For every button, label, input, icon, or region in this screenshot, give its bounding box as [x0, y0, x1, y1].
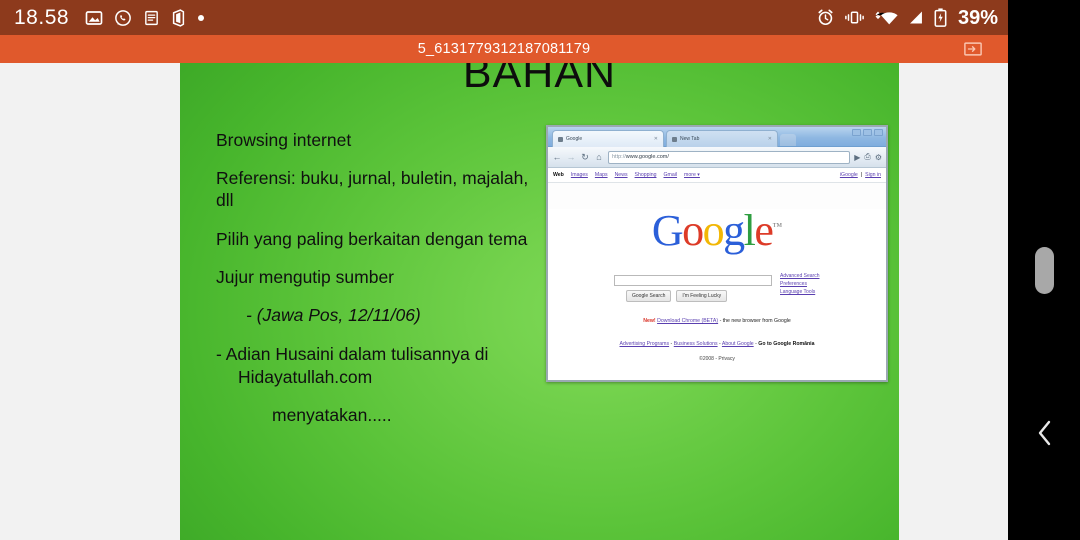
minimize-icon [852, 129, 861, 136]
slide-line-citation: - (Jawa Pos, 12/11/06) [216, 304, 541, 326]
logo-letter: o [703, 209, 724, 253]
slide-line: Pilih yang paling berkaitan dengan tema [216, 228, 541, 250]
status-system-icons: 39% [816, 8, 998, 28]
privacy-link: Privacy [718, 356, 734, 362]
slide-line-closing: menyatakan..... [216, 404, 541, 426]
home-icon: ⌂ [594, 153, 604, 162]
nav-link-maps: Maps [595, 172, 608, 178]
battery-icon [934, 8, 947, 27]
browser-tab-strip: Google ✕ New Tab ✕ [548, 127, 886, 147]
page-menu-icon: ⎙ [864, 152, 870, 162]
back-icon: ← [552, 153, 562, 162]
browser-tab-label: Google [566, 136, 582, 142]
alarm-icon [816, 8, 835, 27]
new-tab-button [780, 134, 796, 146]
chevron-left-icon [1036, 419, 1054, 452]
vibrate-icon [844, 9, 865, 26]
maximize-icon [863, 129, 872, 136]
window-controls [852, 129, 883, 136]
go-icon: ▶ [854, 153, 860, 162]
document-icon [143, 9, 160, 27]
slide-body-text: Browsing internet Referensi: buku, jurna… [216, 129, 541, 426]
google-logo: Google™ [548, 209, 886, 253]
separator: | [861, 172, 862, 178]
separator: - [719, 341, 721, 347]
office-icon [171, 9, 186, 27]
browser-tab-google: Google ✕ [552, 130, 664, 147]
embedded-browser-screenshot: Google ✕ New Tab ✕ [546, 125, 888, 382]
url-host: www.google.com/ [626, 154, 669, 160]
nav-link-igoogle: iGoogle [840, 172, 858, 178]
slide-line-source: - Adian Husaini dalam tulisannya di Hida… [216, 343, 541, 387]
copyright-text: ©2008 - [699, 356, 717, 362]
search-input [614, 275, 772, 286]
wrench-icon: ⚙ [875, 153, 882, 162]
forward-icon: → [566, 153, 576, 162]
nav-link-shopping: Shopping [635, 172, 657, 178]
image-icon [85, 9, 103, 27]
google-footer-links: Advertising Programs - Business Solution… [548, 341, 886, 347]
page-title: 5_6131779312187081179 [418, 41, 590, 57]
phone-viewport: 18.58 [0, 0, 1008, 540]
search-buttons: Google Search I'm Feeling Lucky [614, 290, 886, 302]
slide-line: Referensi: buku, jurnal, buletin, majala… [216, 167, 541, 211]
preferences-link: Preferences [780, 281, 819, 287]
reload-icon: ↻ [580, 153, 590, 162]
google-search-button: Google Search [626, 290, 671, 302]
logo-letter: e [754, 209, 772, 253]
slide-title: BAHAN [180, 63, 899, 98]
separator: - [671, 341, 673, 347]
about-google-link: About Google [722, 341, 754, 347]
nav-link-gmail: Gmail [663, 172, 677, 178]
browser-tab-label: New Tab [680, 136, 699, 142]
nav-link-images: Images [571, 172, 588, 178]
search-side-links: Advanced Search Preferences Language Too… [780, 273, 819, 295]
language-tools-link: Language Tools [780, 289, 819, 295]
nav-link-news: News [615, 172, 628, 178]
google-homepage: Google™ Google Search I'm Feeling Lucky … [548, 209, 886, 382]
status-notification-icons [85, 9, 205, 27]
slide-line: Jujur mengutip sumber [216, 266, 541, 288]
chrome-promo: New! Download Chrome (BETA) - the new br… [548, 318, 886, 324]
advertising-programs-link: Advertising Programs [620, 341, 670, 347]
close-icon [874, 129, 883, 136]
logo-letter: G [652, 209, 682, 253]
browser-toolbar: ← → ↻ ⌂ http://www.google.com/ ▶ ⎙ ⚙ [548, 147, 886, 168]
title-bar: 5_6131779312187081179 [0, 35, 1008, 63]
dot-icon [197, 14, 205, 22]
fit-to-screen-icon[interactable] [964, 42, 982, 56]
promo-badge: New! [643, 318, 655, 324]
screen: 18.58 [0, 0, 1080, 540]
wifi-icon [874, 9, 898, 27]
presentation-slide: BAHAN Browsing internet Referensi: buku,… [180, 63, 899, 540]
go-to-google-romania-link: Go to Google România [758, 341, 814, 347]
google-top-nav: Web Images Maps News Shopping Gmail more… [548, 168, 886, 183]
google-account-links: iGoogle | Sign in [840, 172, 881, 178]
logo-letter: g [723, 209, 744, 253]
status-bar: 18.58 [0, 0, 1008, 35]
nav-link-signin: Sign in [865, 172, 881, 178]
slide-line: Browsing internet [216, 129, 541, 151]
close-icon: ✕ [768, 136, 772, 142]
whatsapp-icon [114, 9, 132, 27]
favicon-icon [672, 137, 677, 142]
trademark-icon: ™ [772, 221, 782, 232]
browser-tab-newtab: New Tab ✕ [666, 130, 778, 147]
image-viewer-canvas[interactable]: BAHAN Browsing internet Referensi: buku,… [0, 63, 1008, 540]
navigation-strip [1008, 0, 1080, 540]
download-chrome-link: Download Chrome (BETA) [657, 318, 718, 324]
status-clock: 18.58 [14, 7, 69, 28]
address-bar: http://www.google.com/ [608, 151, 850, 164]
signal-icon [907, 9, 925, 26]
close-icon: ✕ [654, 136, 658, 142]
logo-letter: o [682, 209, 703, 253]
promo-text: - the new browser from Google [720, 318, 791, 324]
battery-percent: 39% [958, 8, 998, 28]
back-button[interactable] [1030, 420, 1060, 450]
google-search-area: Google Search I'm Feeling Lucky Advanced… [548, 275, 886, 302]
nav-link-more: more ▾ [684, 172, 700, 178]
url-scheme: http:// [612, 154, 626, 160]
google-copyright: ©2008 - Privacy [548, 356, 886, 362]
vertical-scrollbar-thumb[interactable] [1035, 247, 1054, 294]
favicon-icon [558, 137, 563, 142]
nav-link-web: Web [553, 172, 564, 178]
feeling-lucky-button: I'm Feeling Lucky [676, 290, 727, 302]
toolbar-right-icons: ▶ ⎙ ⚙ [854, 152, 882, 162]
business-solutions-link: Business Solutions [674, 341, 718, 347]
separator: - [755, 341, 757, 347]
advanced-search-link: Advanced Search [780, 273, 819, 279]
logo-letter: l [744, 209, 755, 253]
